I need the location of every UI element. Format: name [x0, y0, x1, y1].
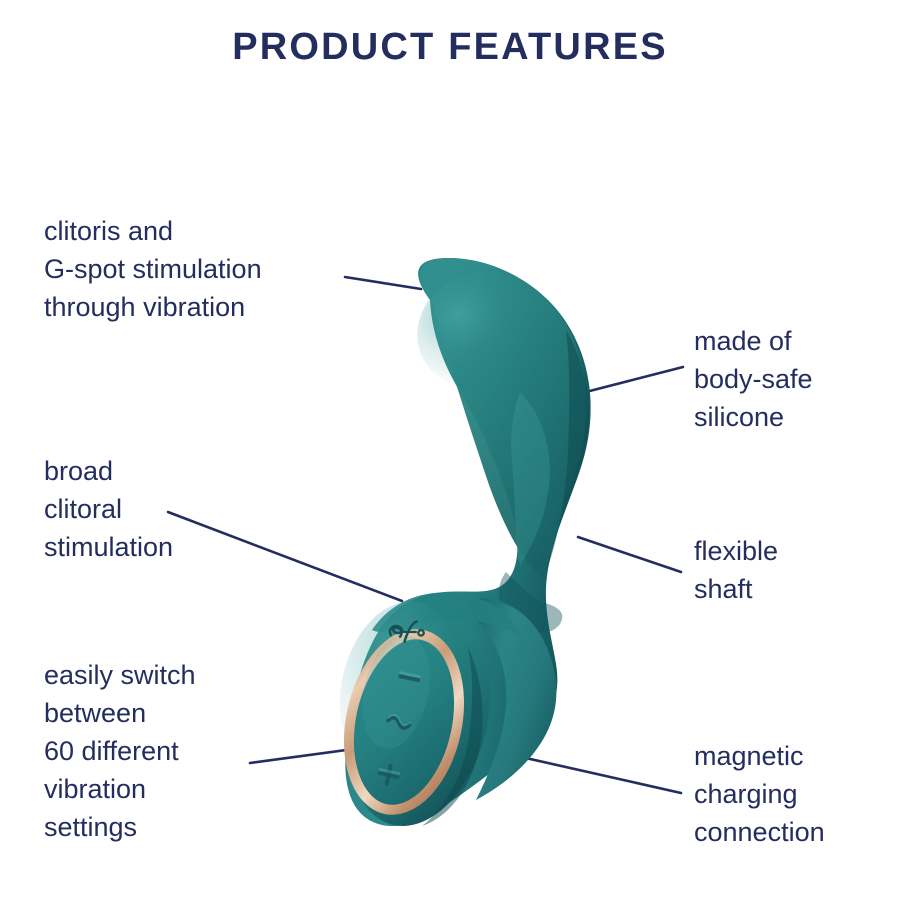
- product-features-page: PRODUCT FEATURES: [0, 0, 900, 900]
- product-body: [323, 251, 591, 841]
- callout-switch-settings: easily switch between 60 different vibra…: [44, 656, 196, 846]
- callout-body-safe: made of body-safe silicone: [694, 322, 813, 436]
- callout-flexible-shaft: flexible shaft: [694, 532, 778, 608]
- leader-line-broad-clitoral: [168, 512, 402, 601]
- callout-clitoris-gspot: clitoris and G-spot stimulation through …: [44, 212, 262, 326]
- callout-magnetic-charging: magnetic charging connection: [694, 737, 825, 851]
- leader-line-flexible-shaft: [578, 537, 681, 572]
- callout-broad-clitoral: broad clitoral stimulation: [44, 452, 173, 566]
- leader-line-clitoris-gspot: [345, 277, 421, 289]
- leader-line-body-safe: [578, 367, 683, 394]
